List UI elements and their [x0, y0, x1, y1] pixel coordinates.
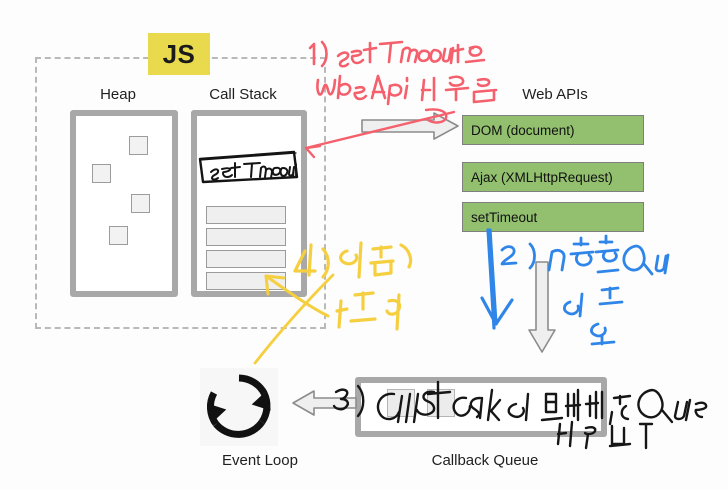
call-stack-frame-4	[206, 272, 286, 290]
web-api-item-settimeout[interactable]: setTimeout	[462, 202, 644, 232]
js-logo: JS	[148, 33, 210, 75]
heap-object-1	[129, 136, 148, 155]
web-apis-label: Web APIs	[490, 86, 620, 103]
arrow-callback-queue-to-event-loop	[292, 390, 356, 416]
heap-box	[70, 110, 178, 297]
arrow-call-stack-to-web-apis	[362, 112, 460, 140]
heap-object-3	[131, 194, 150, 213]
web-api-item-dom[interactable]: DOM (document)	[462, 115, 644, 145]
heap-object-4	[109, 226, 128, 245]
call-stack-frame-1	[206, 206, 286, 224]
web-api-item-label: DOM (document)	[471, 123, 575, 138]
circular-arrows-icon	[200, 368, 278, 446]
arrow-web-apis-to-callback-queue	[527, 262, 557, 354]
js-logo-label: JS	[163, 41, 196, 67]
heap-object-2	[92, 164, 111, 183]
queue-item-1	[387, 389, 415, 417]
call-stack-box	[191, 110, 307, 297]
call-stack-label: Call Stack	[188, 86, 298, 103]
diagram-canvas: JS Heap Call Stack	[0, 0, 728, 489]
event-loop-label: Event Loop	[195, 452, 325, 469]
queue-item-2	[427, 389, 455, 417]
web-api-item-label: setTimeout	[471, 210, 537, 225]
web-api-item-label: Ajax (XMLHttpRequest)	[471, 170, 613, 185]
call-stack-frame-2	[206, 228, 286, 246]
call-stack-frame-3	[206, 250, 286, 268]
web-api-item-ajax[interactable]: Ajax (XMLHttpRequest)	[462, 162, 644, 192]
heap-label: Heap	[68, 86, 168, 103]
callback-queue-box	[355, 377, 607, 437]
annotation-2-blue	[474, 228, 674, 358]
annotation-1-red	[300, 28, 520, 110]
callback-queue-label: Callback Queue	[395, 452, 575, 469]
